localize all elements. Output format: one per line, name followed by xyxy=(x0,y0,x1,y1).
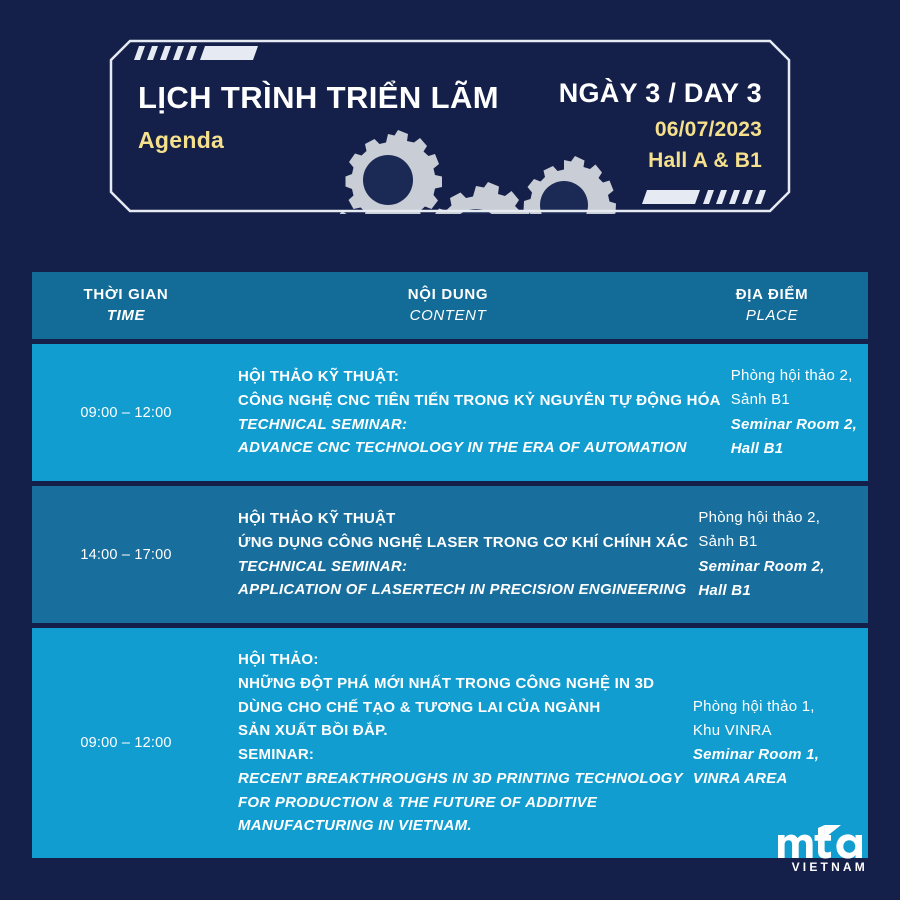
row-place: Phòng hội thảo 1, Khu VINRA Seminar Room… xyxy=(693,695,893,792)
row-time: 09:00 – 12:00 xyxy=(32,735,220,751)
row-time: 09:00 – 12:00 xyxy=(32,405,220,421)
header-day-block: NGÀY 3 / DAY 3 06/07/2023 Hall A & B1 xyxy=(559,78,762,173)
column-header-time-en: TIME xyxy=(32,306,220,326)
column-header-place-en: PLACE xyxy=(676,306,868,326)
content-line-vi: HỘI THẢO KỸ THUẬT xyxy=(238,507,688,531)
content-line-en: FOR PRODUCTION & THE FUTURE OF ADDITIVE xyxy=(238,791,683,815)
content-line-en: MANUFACTURING IN VIETNAM. xyxy=(238,814,683,838)
table-header-row: THỜI GIAN TIME NỘI DUNG CONTENT ĐỊA ĐIỂM… xyxy=(32,272,868,339)
content-line-en: SEMINAR: xyxy=(238,743,683,767)
column-header-content-vi: NỘI DUNG xyxy=(220,285,676,305)
place-line-en: Seminar Room 1, xyxy=(693,743,885,767)
mta-logo-icon xyxy=(778,825,870,859)
place-line-en: VINRA AREA xyxy=(693,767,885,791)
column-header-place: ĐỊA ĐIỂM PLACE xyxy=(676,285,868,326)
place-line-vi: Phòng hội thảo 2, xyxy=(731,364,900,388)
place-line-vi: Khu VINRA xyxy=(693,719,885,743)
content-line-vi: CÔNG NGHỆ CNC TIÊN TIẾN TRONG KỶ NGUYÊN … xyxy=(238,389,721,413)
header-banner: LỊCH TRÌNH TRIỂN LÃM Agenda NGÀY 3 / DAY… xyxy=(108,38,792,214)
place-line-en: Hall B1 xyxy=(698,579,890,603)
place-line-en: Hall B1 xyxy=(731,437,900,461)
content-line-vi: ỨNG DỤNG CÔNG NGHỆ LASER TRONG CƠ KHÍ CH… xyxy=(238,531,688,555)
table-row: 09:00 – 12:00 HỘI THẢO KỸ THUẬT: CÔNG NG… xyxy=(32,344,868,481)
header-title-block: LỊCH TRÌNH TRIỂN LÃM Agenda xyxy=(138,82,499,154)
place-line-vi: Sảnh B1 xyxy=(698,530,890,554)
column-header-content: NỘI DUNG CONTENT xyxy=(220,285,676,326)
row-place: Phòng hội thảo 2, Sảnh B1 Seminar Room 2… xyxy=(731,364,900,461)
mta-vietnam-logo: VIETNAM xyxy=(778,825,870,874)
content-line-en: APPLICATION OF LASERTECH IN PRECISION EN… xyxy=(238,578,688,602)
logo-subtitle: VIETNAM xyxy=(778,860,868,874)
place-line-en: Seminar Room 2, xyxy=(731,413,900,437)
table-row: 09:00 – 12:00 HỘI THẢO: NHỮNG ĐỘT PHÁ MỚ… xyxy=(32,628,868,858)
content-line-vi: SẢN XUẤT BỒI ĐẮP. xyxy=(238,719,683,743)
content-line-vi: HỘI THẢO KỸ THUẬT: xyxy=(238,365,721,389)
column-header-place-vi: ĐỊA ĐIỂM xyxy=(676,285,868,305)
row-time: 14:00 – 17:00 xyxy=(32,547,220,563)
table-row: 14:00 – 17:00 HỘI THẢO KỸ THUẬT ỨNG DỤNG… xyxy=(32,486,868,623)
row-content: HỘI THẢO KỸ THUẬT ỨNG DỤNG CÔNG NGHỆ LAS… xyxy=(220,507,698,602)
row-content: HỘI THẢO: NHỮNG ĐỘT PHÁ MỚI NHẤT TRONG C… xyxy=(220,648,693,838)
deco-bars-bottom-right-icon xyxy=(638,188,770,208)
content-line-vi: NHỮNG ĐỘT PHÁ MỚI NHẤT TRONG CÔNG NGHỆ I… xyxy=(238,672,683,696)
row-place: Phòng hội thảo 2, Sảnh B1 Seminar Room 2… xyxy=(698,506,898,603)
day-label: NGÀY 3 / DAY 3 xyxy=(559,78,762,109)
column-header-time-vi: THỜI GIAN xyxy=(32,285,220,305)
content-line-vi: DÙNG CHO CHẾ TẠO & TƯƠNG LAI CỦA NGÀNH xyxy=(238,696,683,720)
row-content: HỘI THẢO KỸ THUẬT: CÔNG NGHỆ CNC TIÊN TI… xyxy=(220,365,731,460)
place-line-vi: Sảnh B1 xyxy=(731,388,900,412)
date-label: 06/07/2023 xyxy=(559,118,762,142)
place-line-vi: Phòng hội thảo 2, xyxy=(698,506,890,530)
hall-label: Hall A & B1 xyxy=(559,149,762,173)
agenda-table: THỜI GIAN TIME NỘI DUNG CONTENT ĐỊA ĐIỂM… xyxy=(32,272,868,858)
content-line-vi: HỘI THẢO: xyxy=(238,648,683,672)
content-line-en: ADVANCE CNC TECHNOLOGY IN THE ERA OF AUT… xyxy=(238,436,721,460)
place-line-vi: Phòng hội thảo 1, xyxy=(693,695,885,719)
place-line-en: Seminar Room 2, xyxy=(698,555,890,579)
column-header-time: THỜI GIAN TIME xyxy=(32,285,220,326)
deco-bars-top-left-icon xyxy=(130,44,262,64)
page-title: LỊCH TRÌNH TRIỂN LÃM xyxy=(138,82,499,115)
page-subtitle: Agenda xyxy=(138,127,499,154)
content-line-en: TECHNICAL SEMINAR: xyxy=(238,413,721,437)
content-line-en: TECHNICAL SEMINAR: xyxy=(238,555,688,579)
content-line-en: RECENT BREAKTHROUGHS IN 3D PRINTING TECH… xyxy=(238,767,683,791)
column-header-content-en: CONTENT xyxy=(220,306,676,326)
